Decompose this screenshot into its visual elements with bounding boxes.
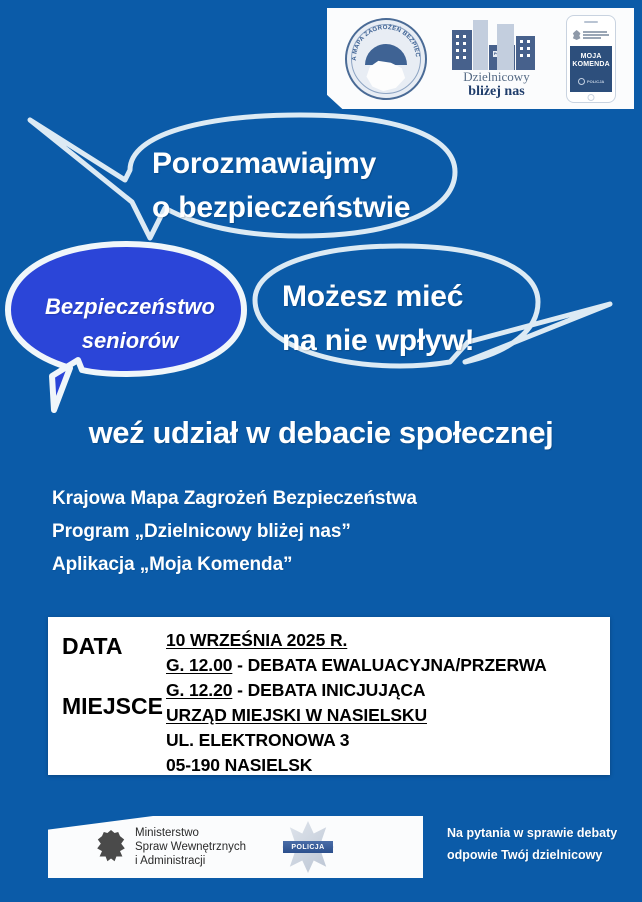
- bubble-3-line2: seniorów: [20, 324, 240, 358]
- footer-note-line1: Na pytania w sprawie debaty: [447, 822, 617, 844]
- phone-policja-badge: POLICJA: [578, 78, 604, 85]
- bubble-2-line1: Możesz mieć: [282, 275, 474, 319]
- bubble-3-text: Bezpieczeństwo seniorów: [20, 290, 240, 358]
- moja-komenda-phone-icon: MOJA KOMENDA POLICJA: [566, 15, 616, 103]
- event-details-labels: DATA MIEJSCE: [48, 617, 166, 775]
- footer-contact-note: Na pytania w sprawie debaty odpowie Twój…: [447, 822, 617, 866]
- phone-title-line2: KOMENDA: [572, 61, 610, 70]
- bubble-2-line2: na nie wpływ!: [282, 319, 474, 363]
- bubble-1-text: Porozmawiajmy o bezpieczeństwie: [152, 142, 410, 230]
- detail-line: UL. ELEKTRONOWA 3: [166, 728, 610, 753]
- ministry-logo: Ministerstwo Spraw Wewnętrznych i Admini…: [96, 826, 246, 868]
- detail-line: 10 WRZEŚNIA 2025 R.: [166, 628, 610, 653]
- ministry-line3: i Administracji: [135, 854, 246, 868]
- eagle-icon: [572, 30, 581, 40]
- label-place: MIEJSCE: [62, 693, 163, 720]
- detail-line: G. 12.00 - DEBATA EWALUACYJNA/PRZERWA: [166, 653, 610, 678]
- event-details-box: DATA MIEJSCE 10 WRZEŚNIA 2025 R. G. 12.0…: [48, 617, 610, 775]
- label-date: DATA: [62, 633, 122, 660]
- detail-line: URZĄD MIEJSKI W NASIELSKU: [166, 703, 610, 728]
- poster-root: KRAJOWA MAPA ZAGROŻEŃ BEZPIECZEŃSTWA: [0, 0, 642, 902]
- ministry-label-placeholder: [583, 31, 609, 39]
- dzielnicowy-line1: Dzielnicowy: [450, 70, 542, 84]
- header-logo-banner: KRAJOWA MAPA ZAGROŻEŃ BEZPIECZEŃSTWA: [327, 8, 634, 109]
- ministry-line1: Ministerstwo: [135, 826, 246, 840]
- policja-ribbon-label: POLICJA: [283, 841, 333, 853]
- program-list: Krajowa Mapa Zagrożeń Bezpieczeństwa Pro…: [52, 482, 417, 581]
- dzielnicowy-line2: bliżej nas: [450, 84, 542, 99]
- detail-line: G. 12.20 - DEBATA INICJUJĄCA: [166, 678, 610, 703]
- bubble-3-line1: Bezpieczeństwo: [20, 290, 240, 324]
- bubble-1-line2: o bezpieczeństwie: [152, 186, 410, 230]
- phone-title-line1: MOJA: [572, 53, 610, 62]
- dzielnicowy-logo: POLICJA Dzielnicowy bliżej nas: [450, 16, 542, 102]
- page-title: weź udział w debacie społecznej: [0, 415, 642, 451]
- city-buildings-icon: POLICJA: [452, 18, 540, 70]
- policja-star-badge-icon: POLICJA: [282, 821, 334, 873]
- kmzb-logo-icon: KRAJOWA MAPA ZAGROŻEŃ BEZPIECZEŃSTWA: [345, 18, 427, 100]
- bubble-1-line1: Porozmawiajmy: [152, 142, 410, 186]
- program-item: Aplikacja „Moja Komenda”: [52, 548, 417, 581]
- footer-note-line2: odpowie Twój dzielnicowy: [447, 844, 617, 866]
- phone-badge-label: POLICJA: [587, 79, 604, 84]
- program-item: Program „Dzielnicowy bliżej nas”: [52, 515, 417, 548]
- program-item: Krajowa Mapa Zagrożeń Bezpieczeństwa: [52, 482, 417, 515]
- ministry-line2: Spraw Wewnętrznych: [135, 840, 246, 854]
- polish-eagle-icon: [96, 830, 126, 864]
- detail-line: 05-190 NASIELSK: [166, 753, 610, 778]
- footer-logo-box: Ministerstwo Spraw Wewnętrznych i Admini…: [48, 816, 423, 878]
- bubble-2-text: Możesz mieć na nie wpływ!: [282, 275, 474, 363]
- event-details-lines: 10 WRZEŚNIA 2025 R. G. 12.00 - DEBATA EW…: [166, 617, 610, 775]
